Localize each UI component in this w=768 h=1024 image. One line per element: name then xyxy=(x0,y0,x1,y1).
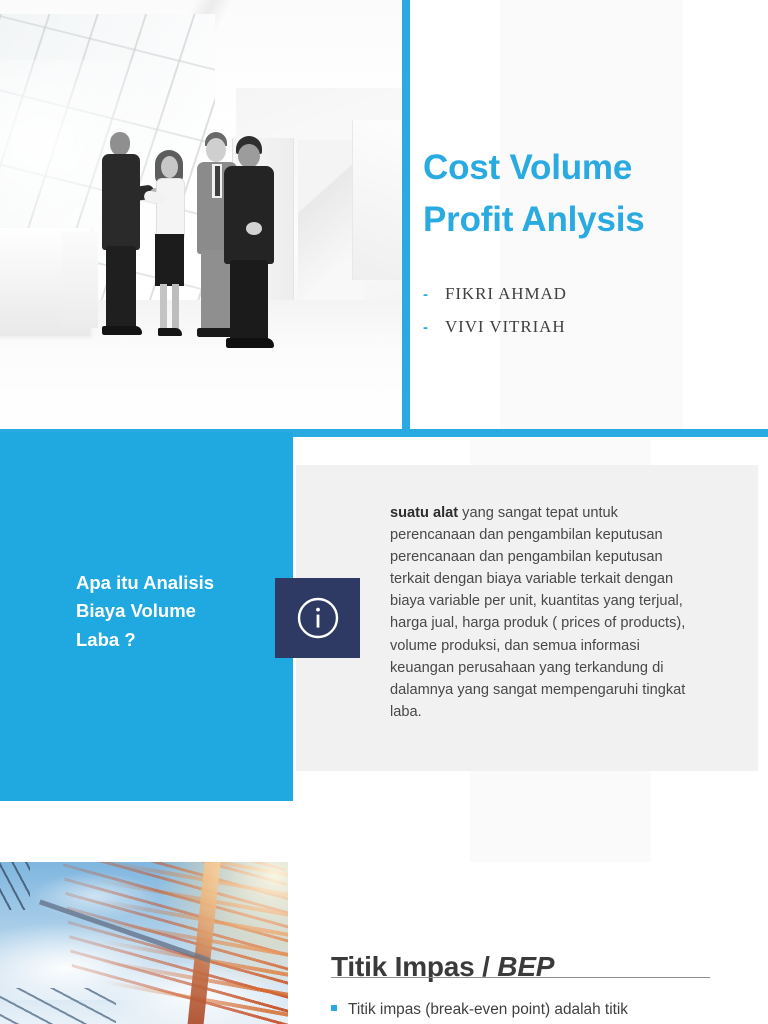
bep-heading: Titik Impas / BEP xyxy=(331,951,554,983)
bep-divider-rule xyxy=(331,977,710,978)
presentation-deck: Cost Volume Profit Anlysis - FIKRI AHMAD… xyxy=(0,0,768,1024)
definition-body-rest: yang sangat tepat untuk perencanaan dan … xyxy=(390,505,685,721)
title-text-block: Cost Volume Profit Anlysis - FIKRI AHMAD… xyxy=(423,142,753,350)
info-icon-tile xyxy=(275,578,360,658)
author-item: - VIVI VITRIAH xyxy=(423,317,753,337)
photo-person-4 xyxy=(222,136,278,348)
list-item: Titik impas (break-even point) adalah ti… xyxy=(331,998,751,1021)
photo-frame-left xyxy=(0,862,30,910)
photo-bench-secondary xyxy=(62,232,98,328)
definition-body-lead: suatu alat xyxy=(390,505,458,521)
hero-photo-business-meeting xyxy=(0,0,402,432)
accent-bar-vertical xyxy=(402,0,410,432)
author-item: - FIKRI AHMAD xyxy=(423,284,753,304)
bep-photo-skyscraper xyxy=(0,862,288,1024)
slide-title: Cost Volume Profit Anlysis - FIKRI AHMAD… xyxy=(0,0,768,437)
definition-heading: Apa itu Analisis Biaya Volume Laba ? xyxy=(76,569,276,654)
photo-frame-bottom xyxy=(0,988,116,1024)
photo-sun-glow xyxy=(152,862,288,984)
bep-bullet-list: Titik impas (break-even point) adalah ti… xyxy=(331,998,751,1021)
author-list: - FIKRI AHMAD - VIVI VITRIAH xyxy=(423,284,753,337)
photo-person-2 xyxy=(150,150,188,340)
author-name: FIKRI AHMAD xyxy=(445,284,567,304)
square-bullet-icon xyxy=(331,1005,337,1011)
bep-bullet-text: Titik impas (break-even point) adalah ti… xyxy=(348,998,628,1021)
dash-bullet-icon: - xyxy=(423,319,445,336)
dash-bullet-icon: - xyxy=(423,286,445,303)
photo-person-1 xyxy=(100,132,142,340)
page-title: Cost Volume Profit Anlysis xyxy=(423,142,753,246)
info-icon xyxy=(295,595,341,641)
definition-body-text: suatu alat yang sangat tepat untuk peren… xyxy=(390,502,686,724)
photo-wall-panel-b xyxy=(352,120,402,280)
author-name: VIVI VITRIAH xyxy=(445,317,566,337)
